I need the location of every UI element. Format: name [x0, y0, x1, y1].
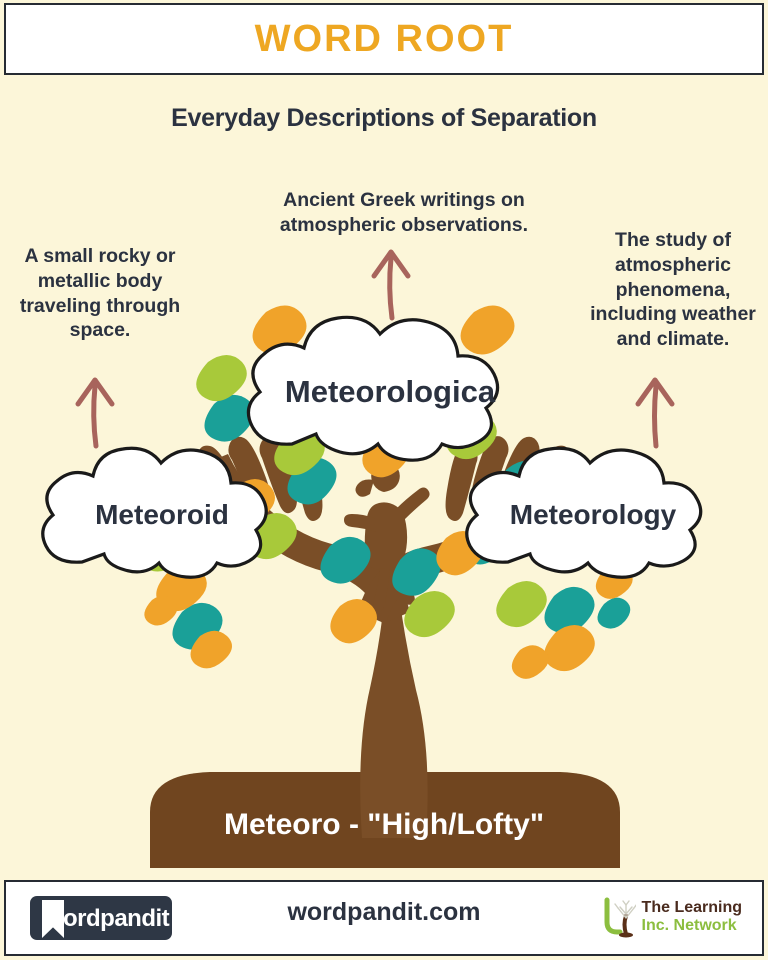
subtitle: Everyday Descriptions of Separation: [0, 104, 768, 133]
partner-text: The Learning Inc. Network: [642, 899, 742, 935]
arrow-center: [374, 252, 408, 318]
partner-logo[interactable]: The Learning Inc. Network: [602, 896, 742, 938]
caption-meteoroid: A small rocky or metallic body traveling…: [0, 244, 202, 343]
caption-meteorology: The study of atmospheric phenomena, incl…: [578, 228, 768, 352]
infographic-page: WORD ROOT Everyday Descriptions of Separ…: [0, 0, 768, 960]
arrow-left: [78, 380, 112, 446]
partner-line-1: The Learning: [642, 899, 742, 917]
cloud-label: Meteorology: [510, 499, 676, 531]
cloud-label: Meteorologica: [285, 374, 495, 410]
cloud-label: Meteoroid: [95, 499, 229, 531]
partner-line-2: Inc. Network: [642, 917, 742, 935]
soil-base: [150, 840, 620, 868]
page-title: WORD ROOT: [255, 18, 514, 61]
cloud-meteoroid[interactable]: Meteoroid: [28, 442, 296, 588]
cloud-meteorology[interactable]: Meteorology: [452, 442, 734, 588]
tree-trunk: [360, 602, 427, 838]
header-bar: WORD ROOT: [4, 3, 764, 75]
arrow-right: [638, 380, 672, 446]
root-word-label: Meteoro - "High/Lofty": [0, 808, 768, 842]
caption-meteorologica: Ancient Greek writings on atmospheric ob…: [226, 188, 582, 238]
learning-network-tree-icon: [602, 896, 636, 938]
